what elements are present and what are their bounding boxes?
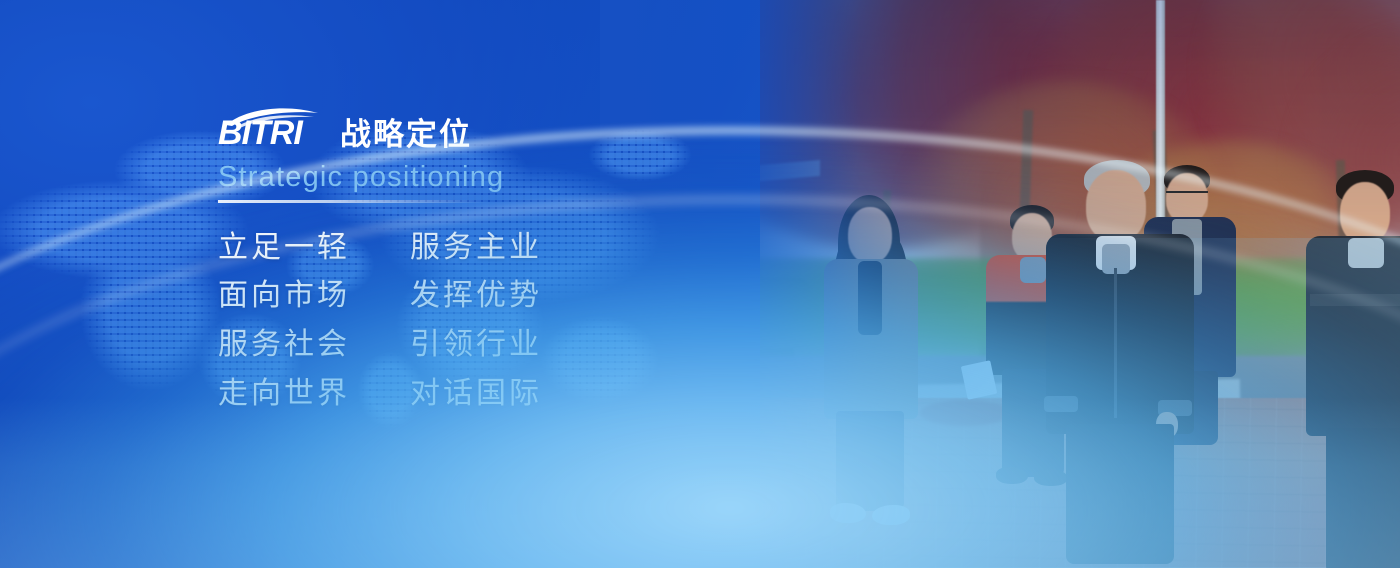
divider-rule [218, 200, 488, 203]
brand-lockup: BITRI 战略定位 [218, 106, 738, 154]
brand-subtitle-en: Strategic positioning [218, 162, 738, 194]
slogan-left: 走向世界 [218, 371, 368, 417]
slogan-left: 面向市场 [218, 273, 368, 319]
slogan-right: 服务主业 [410, 225, 560, 271]
slogan-row: 走向世界 对话国际 [218, 371, 738, 417]
slogan-left: 服务社会 [218, 322, 368, 368]
strategic-positioning-banner: BITRI 战略定位 Strategic positioning 立足一轻 服务… [0, 0, 1400, 568]
banner-content: BITRI 战略定位 Strategic positioning 立足一轻 服务… [218, 106, 738, 416]
slogan-list: 立足一轻 服务主业 面向市场 发挥优势 服务社会 引领行业 走向世界 对话国际 [218, 225, 738, 416]
bitri-logo: BITRI [218, 108, 326, 154]
slogan-row: 面向市场 发挥优势 [218, 273, 738, 319]
slogan-right: 对话国际 [410, 371, 560, 417]
slogan-row: 服务社会 引领行业 [218, 322, 738, 368]
slogan-right: 引领行业 [410, 322, 560, 368]
slogan-right: 发挥优势 [410, 273, 560, 319]
slogan-left: 立足一轻 [218, 225, 368, 271]
slogan-row: 立足一轻 服务主业 [218, 225, 738, 271]
brand-title-cn: 战略定位 [340, 120, 472, 154]
bitri-wordmark: BITRI [218, 116, 302, 150]
